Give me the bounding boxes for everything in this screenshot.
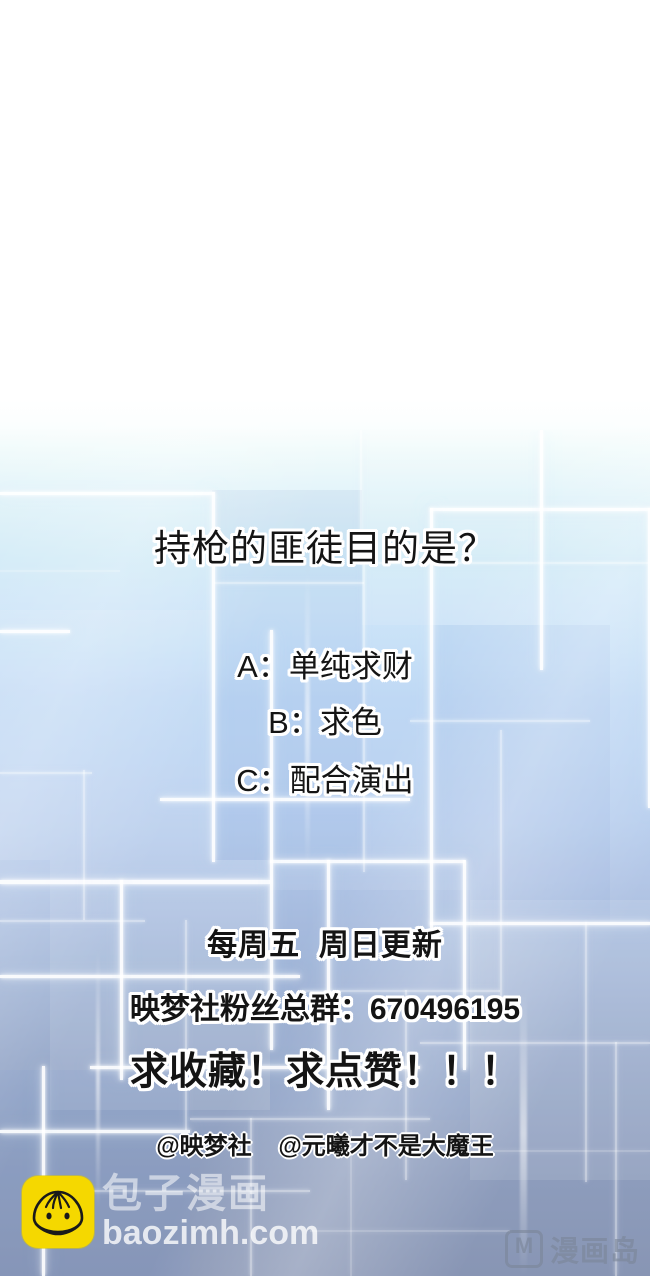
fan-group-text: 映梦社粉丝总群：670496195 xyxy=(0,984,650,1028)
baozimh-cn-name: 包子漫画 xyxy=(102,1174,319,1214)
option-b[interactable]: B：求色 xyxy=(0,697,650,742)
page-title: 持枪的匪徒目的是？ xyxy=(0,518,650,572)
baozi-bun-icon xyxy=(22,1176,94,1248)
comic-page: 持枪的匪徒目的是？ A：单纯求财 B：求色 C：配合演出 每周五 周日更新 映梦… xyxy=(0,0,650,1276)
update-schedule-text: 每周五 周日更新 xyxy=(0,920,650,964)
option-a[interactable]: A：单纯求财 xyxy=(0,641,650,686)
option-c[interactable]: C：配合演出 xyxy=(0,755,650,800)
baozimh-watermark: 包子漫画 baozimh.com xyxy=(22,1176,319,1250)
manhuadao-badge-icon: M xyxy=(505,1230,543,1268)
baozimh-site: baozimh.com xyxy=(102,1216,319,1250)
manhuadao-watermark: M 漫画岛 xyxy=(505,1228,640,1270)
call-to-action-text: 求收藏！求点赞！！！ xyxy=(0,1040,650,1095)
manhuadao-name: 漫画岛 xyxy=(550,1228,640,1270)
credits-text: @映梦社 @元曦才不是大魔王 xyxy=(0,1126,650,1161)
